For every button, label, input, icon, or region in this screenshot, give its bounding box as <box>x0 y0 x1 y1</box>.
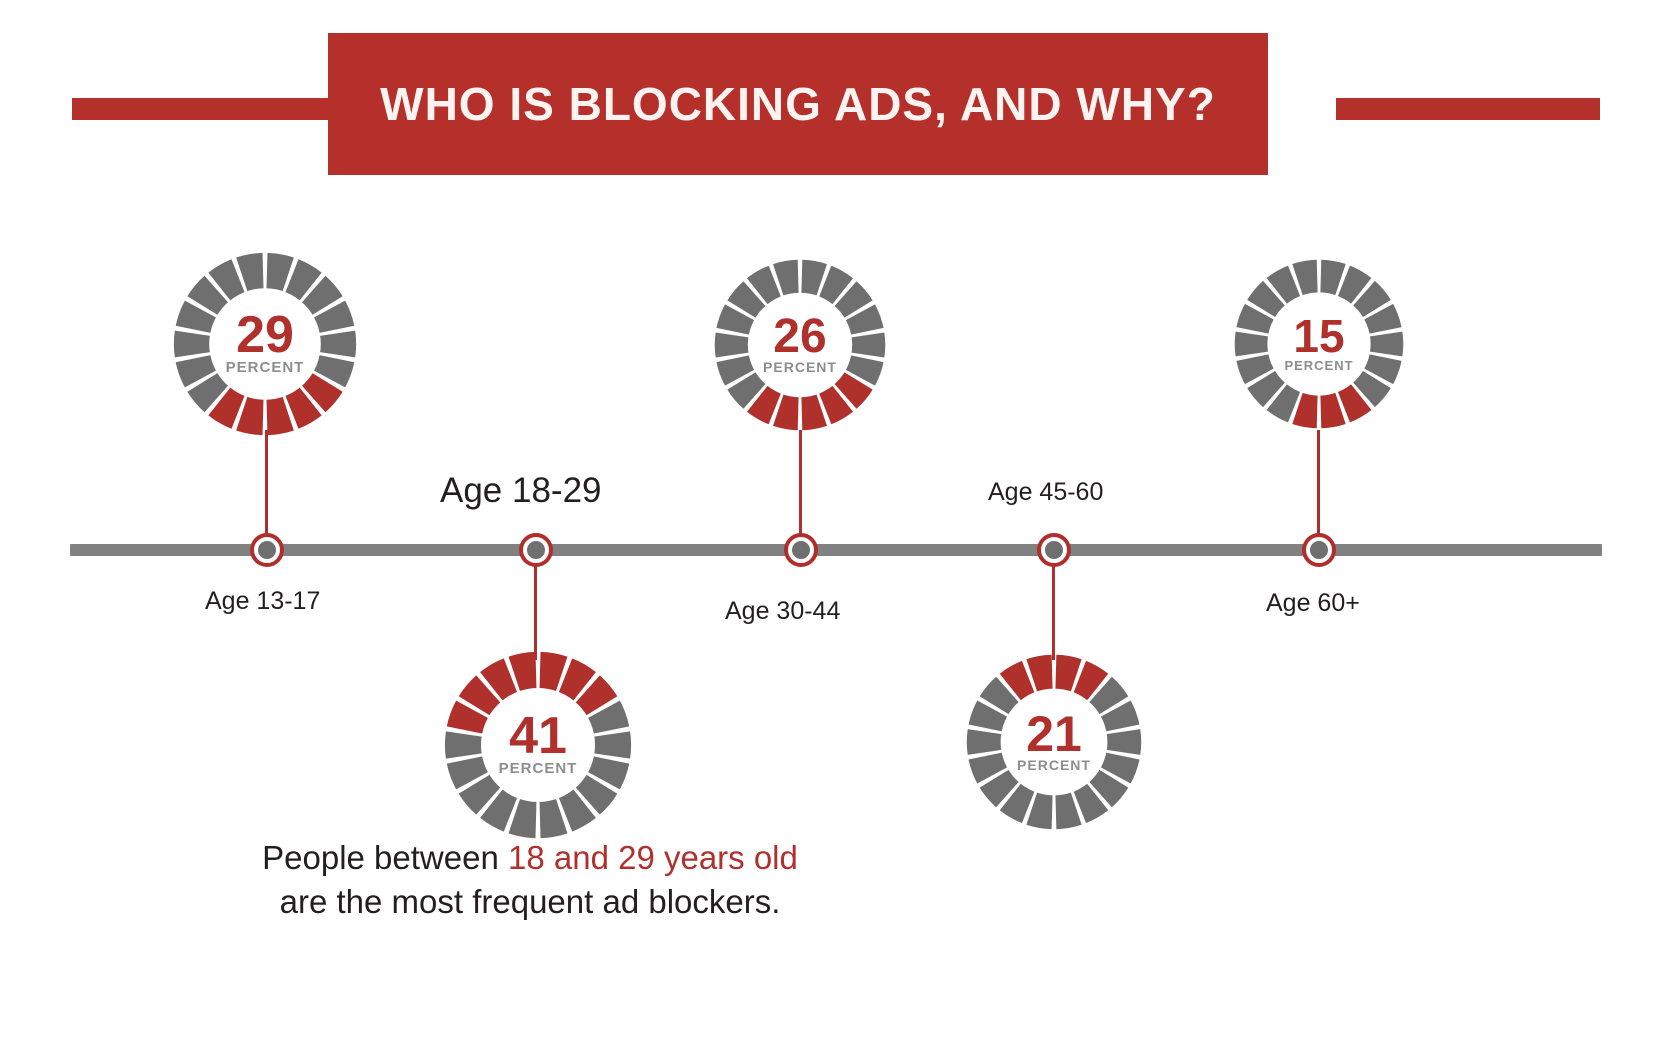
caption-line3-plain: frequent ad blockers. <box>472 883 780 920</box>
donut-segment-empty <box>445 731 485 758</box>
donut-hub-disc <box>748 293 852 397</box>
caption-line1-highlight: 18 and <box>508 839 609 876</box>
donut-segment-empty <box>1235 332 1271 357</box>
donut-segment-empty <box>592 731 632 758</box>
donut-hub-disc <box>1267 292 1370 395</box>
label-age-13-17: Age 13-17 <box>205 587 320 616</box>
donut-segment-empty <box>174 331 213 358</box>
donut-age-18-29[interactable]: 41 PERCENT <box>443 650 633 840</box>
donut-segments-icon <box>443 650 633 840</box>
marker-age-45-60[interactable] <box>1037 533 1071 567</box>
donut-segments-icon <box>1233 258 1405 430</box>
stem-13-17 <box>265 430 268 542</box>
summary-caption: People between 18 and 29 years old are t… <box>260 836 800 923</box>
marker-dot <box>1045 541 1063 559</box>
marker-age-18-29[interactable] <box>519 533 553 567</box>
label-age-18-29: Age 18-29 <box>440 471 602 511</box>
marker-dot <box>258 541 276 559</box>
marker-dot <box>527 541 545 559</box>
donut-segment-empty <box>1104 729 1141 755</box>
title-banner: WHO IS BLOCKING ADS, AND WHY? <box>328 33 1268 175</box>
caption-line2-plain: are the most <box>280 883 463 920</box>
donut-age-30-44[interactable]: 26 PERCENT <box>713 258 887 432</box>
stem-30-44 <box>799 430 802 542</box>
banner-rule-right <box>1336 98 1600 120</box>
donut-hub-disc <box>1001 689 1108 796</box>
marker-age-13-17[interactable] <box>250 533 284 567</box>
stem-60-plus <box>1317 430 1320 542</box>
label-age-45-60: Age 45-60 <box>988 478 1103 507</box>
donut-segment-empty <box>317 331 356 358</box>
label-age-30-44: Age 30-44 <box>725 597 840 626</box>
donut-age-45-60[interactable]: 21 PERCENT <box>965 653 1143 831</box>
donut-hub-disc <box>209 288 321 400</box>
label-age-60-plus: Age 60+ <box>1266 589 1360 618</box>
marker-dot <box>792 541 810 559</box>
donut-age-60-plus[interactable]: 15 PERCENT <box>1233 258 1405 430</box>
donut-age-13-17[interactable]: 29 PERCENT <box>172 251 358 437</box>
donut-segment-empty <box>1367 332 1403 357</box>
caption-line2-highlight: 29 years old <box>618 839 798 876</box>
donut-segment-empty <box>849 332 885 357</box>
marker-age-30-44[interactable] <box>784 533 818 567</box>
caption-line1-plain: People between <box>262 839 508 876</box>
stem-45-60 <box>1052 556 1055 660</box>
donut-segment-empty <box>715 332 751 357</box>
banner-rule-left <box>72 98 336 120</box>
infographic-canvas: WHO IS BLOCKING ADS, AND WHY? Age 13-17 … <box>0 0 1672 1058</box>
donut-hub-disc <box>481 688 595 802</box>
donut-segments-icon <box>172 251 358 437</box>
timeline-axis <box>70 544 1602 556</box>
donut-segment-empty <box>967 729 1004 755</box>
marker-age-60-plus[interactable] <box>1302 533 1336 567</box>
stem-18-29 <box>534 556 537 660</box>
donut-segments-icon <box>713 258 887 432</box>
marker-dot <box>1310 541 1328 559</box>
page-title: WHO IS BLOCKING ADS, AND WHY? <box>380 81 1216 127</box>
donut-segments-icon <box>965 653 1143 831</box>
